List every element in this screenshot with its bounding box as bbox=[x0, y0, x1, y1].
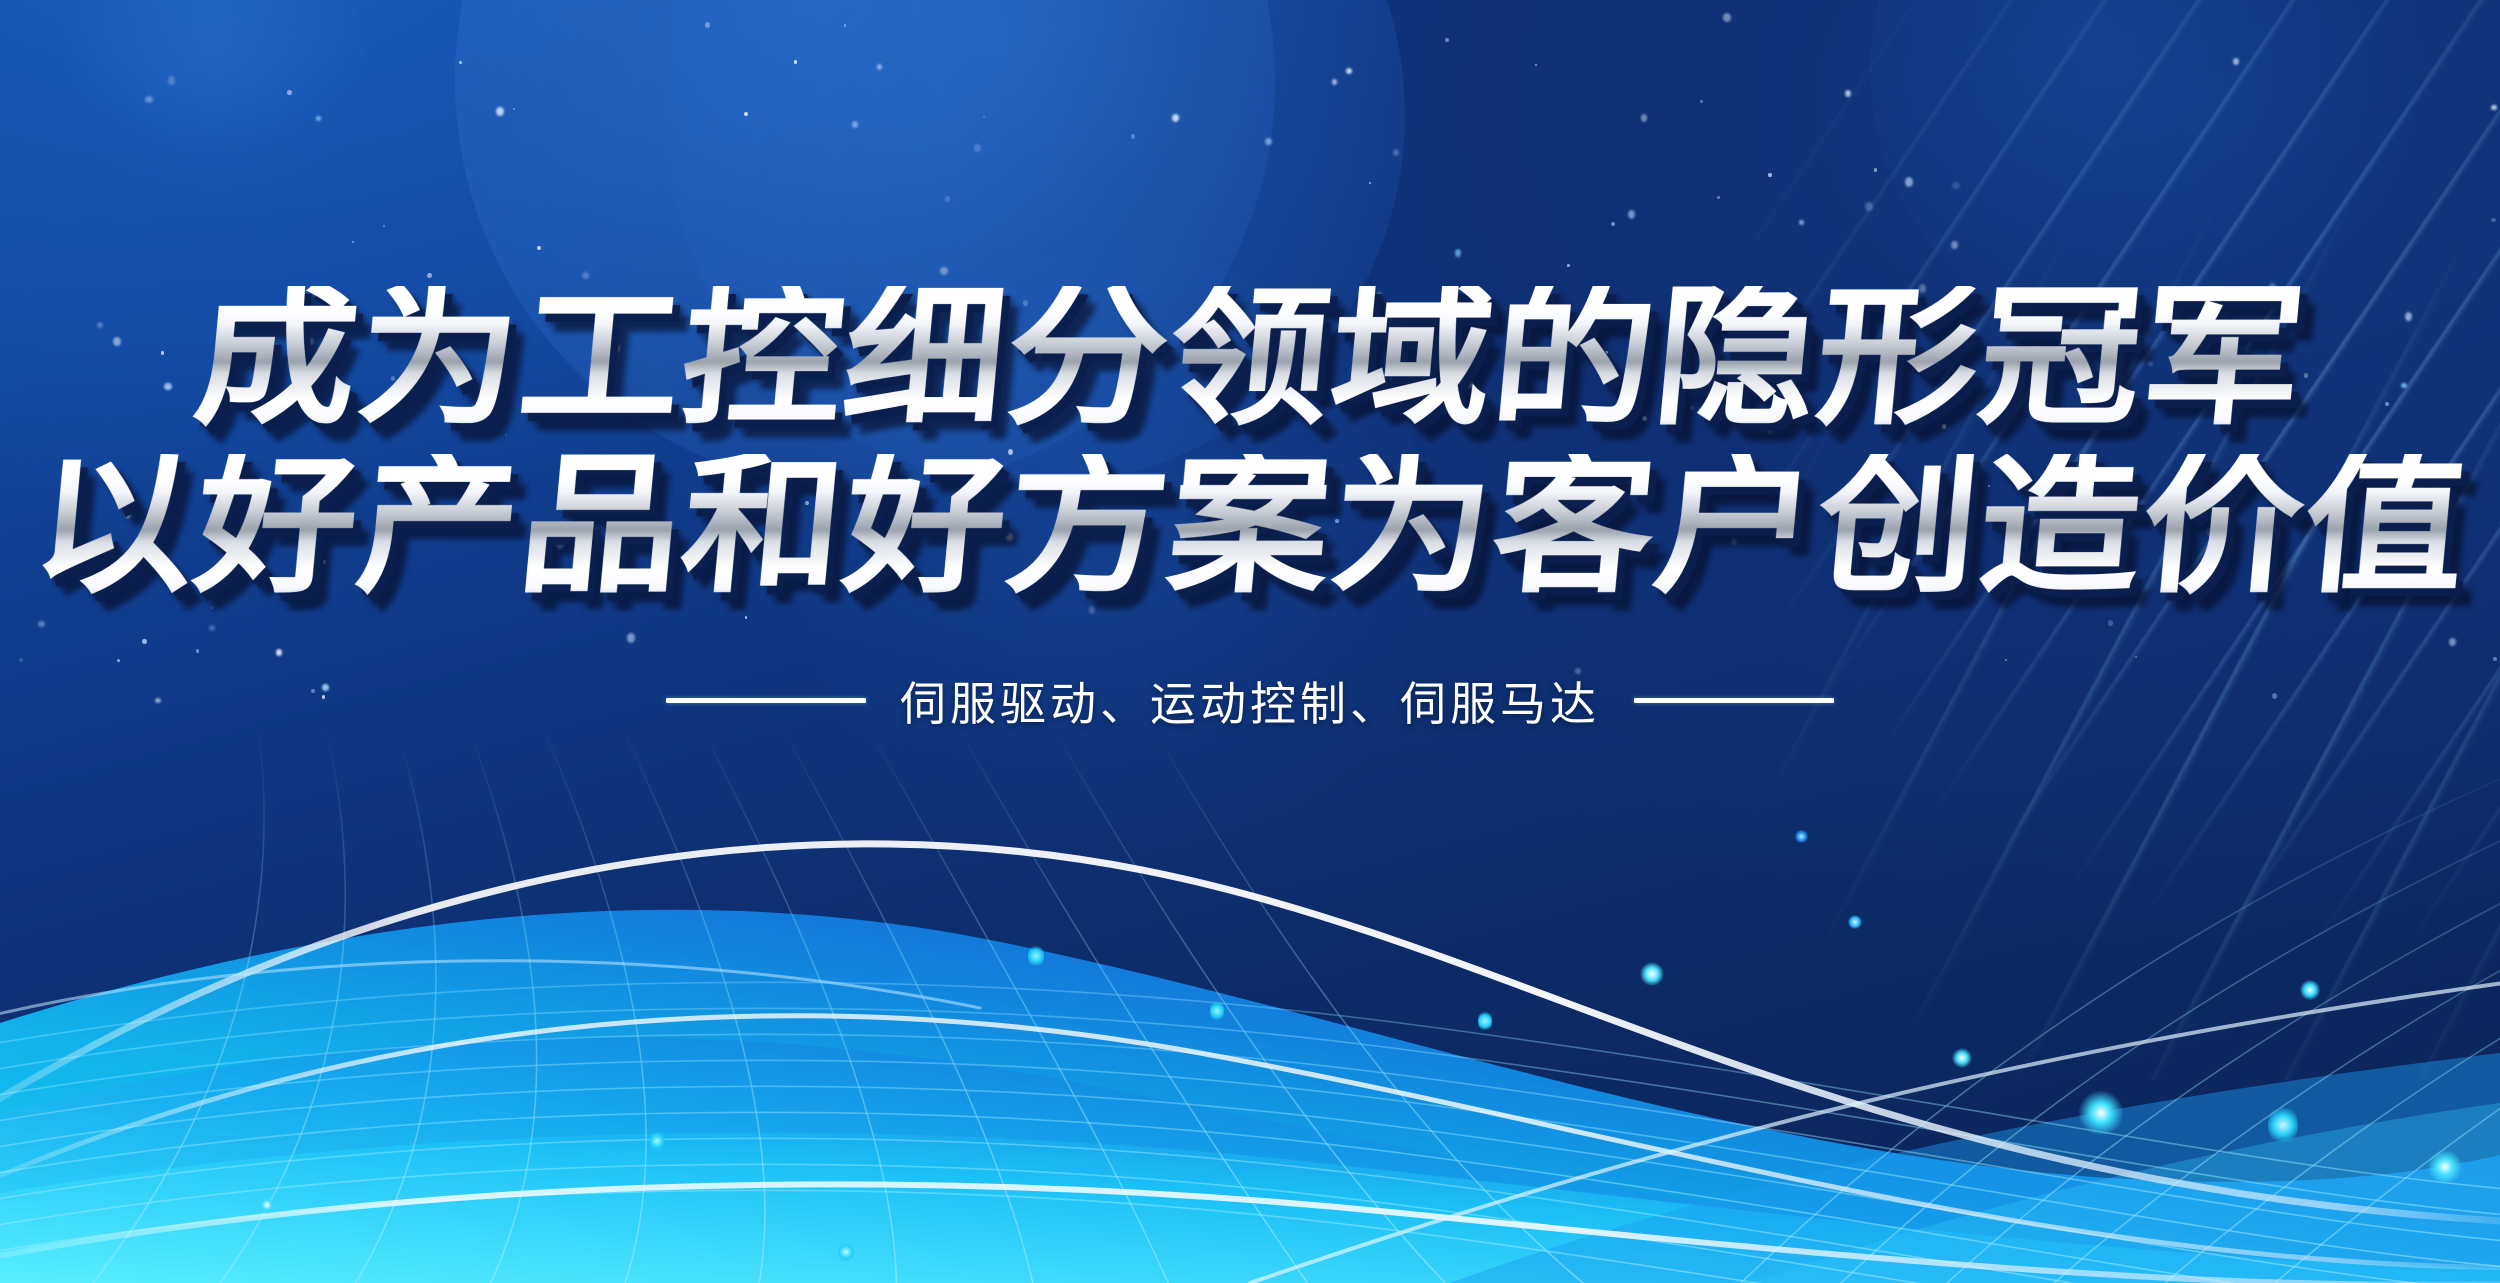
subtitle-rule-right bbox=[1634, 698, 1834, 703]
banner-canvas: 成为工控细分领域的隐形冠军 以好产品和好方案为客户创造价值 伺服驱动、运动控制、… bbox=[0, 0, 2500, 1283]
glow-dot bbox=[1478, 1010, 1492, 1032]
glow-dot bbox=[838, 1240, 854, 1264]
glow-dot bbox=[1028, 944, 1044, 968]
glow-dot bbox=[1210, 1000, 1224, 1022]
headline-line-2: 以好产品和好方案为客户创造价值 bbox=[0, 454, 2500, 600]
banner-content: 成为工控细分领域的隐形冠军 以好产品和好方案为客户创造价值 伺服驱动、运动控制、… bbox=[0, 0, 2500, 734]
glow-dot bbox=[260, 1195, 274, 1215]
glow-dot bbox=[2428, 1150, 2462, 1184]
glow-dot bbox=[1848, 915, 1862, 929]
glow-dot bbox=[1952, 1048, 1972, 1068]
subtitle-text: 伺服驱动、运动控制、伺服马达 bbox=[900, 668, 1600, 734]
glow-dot bbox=[2078, 1090, 2124, 1136]
glow-dot bbox=[650, 1130, 664, 1152]
subtitle-rule-left bbox=[666, 698, 866, 703]
glow-dot bbox=[2300, 980, 2320, 1000]
headline-block: 成为工控细分领域的隐形冠军 以好产品和好方案为客户创造价值 bbox=[0, 286, 2500, 600]
glow-dot bbox=[1795, 830, 1808, 843]
glow-dot bbox=[2268, 1105, 2298, 1145]
glow-dot bbox=[1640, 962, 1664, 986]
cyan-wave-field bbox=[0, 723, 2500, 1283]
subtitle-row: 伺服驱动、运动控制、伺服马达 bbox=[0, 668, 2500, 734]
headline-line-1: 成为工控细分领域的隐形冠军 bbox=[0, 286, 2500, 432]
